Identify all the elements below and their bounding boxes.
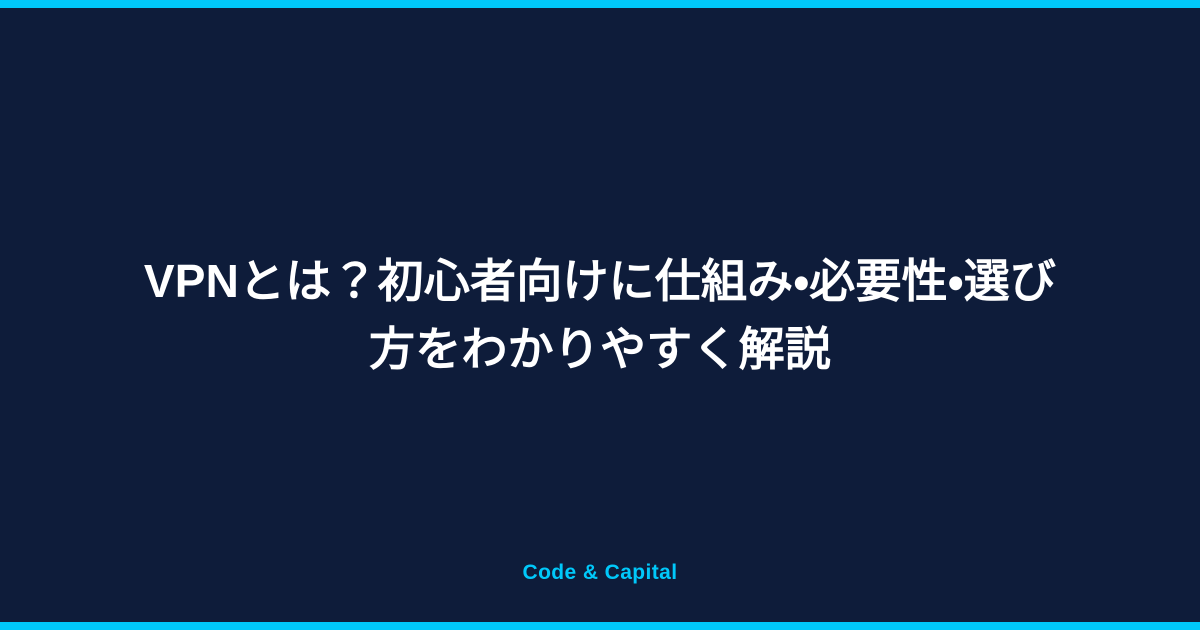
title-block: VPNとは？初心者向けに仕組み・必要性・選び方をわかりやすく解説 [140,247,1060,383]
top-accent-bar [0,0,1200,8]
og-card: VPNとは？初心者向けに仕組み・必要性・選び方をわかりやすく解説 Code & … [0,0,1200,630]
page-title: VPNとは？初心者向けに仕組み・必要性・選び方をわかりやすく解説 [140,247,1060,383]
bottom-accent-bar [0,622,1200,630]
card-content: VPNとは？初心者向けに仕組み・必要性・選び方をわかりやすく解説 [0,8,1200,622]
brand-footer: Code & Capital [0,560,1200,586]
brand-name: Code & Capital [523,560,678,586]
